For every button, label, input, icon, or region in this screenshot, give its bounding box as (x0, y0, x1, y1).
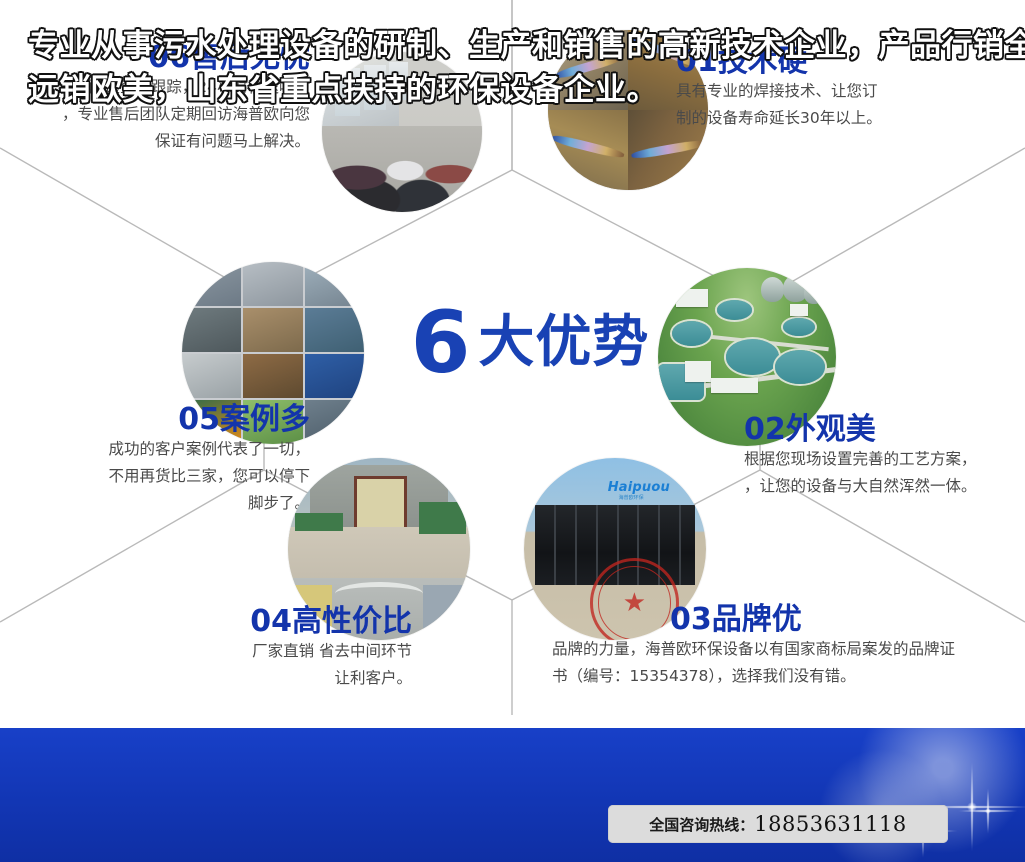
banner-text: 专业从事污水处理设备的研制、生产和销售的高新技术企业，产品行销全国并 远销欧美，… (28, 24, 908, 112)
feature-03-line-1: 品牌的力量，海普欧环保设备以有国家商标局案发的品牌证 (552, 636, 1022, 663)
banner-line-1: 专业从事污水处理设备的研制、生产和销售的高新技术企业，产品行销全国并 (28, 24, 908, 68)
feature-04-body: 厂家直销 省去中间环节 让利客户。 (120, 638, 412, 692)
brand-sublabel: 海普欧环保 (619, 494, 644, 501)
sparkle-icon-small (958, 788, 1018, 834)
hotline-number: 18853631118 (754, 812, 906, 836)
feature-02: 02外观美 根据您现场设置完善的工艺方案， ，让您的设备与大自然浑然一体。 (744, 414, 1025, 500)
feature-03-body: 品牌的力量，海普欧环保设备以有国家商标局案发的品牌证 书（编号：15354378… (552, 636, 1022, 690)
banner-line-2: 远销欧美，山东省重点扶持的环保设备企业。 (28, 68, 908, 112)
center-text: 大优势 (478, 315, 649, 371)
feature-06-line-3: 保证有问题马上解决。 (18, 128, 310, 155)
hotline-box[interactable]: 全国咨询热线： 18853631118 (608, 805, 948, 843)
feature-04: 04高性价比 厂家直销 省去中间环节 让利客户。 (120, 606, 412, 692)
feature-05-line-1: 成功的客户案例代表了一切， (18, 436, 310, 463)
feature-03-line-2: 书（编号：15354378），选择我们没有错。 (552, 663, 1022, 690)
feature-05-heading: 05案例多 (18, 404, 310, 436)
feature-05-line-2: 不用再货比三家，您可以停下 (18, 463, 310, 490)
feature-02-line-1: 根据您现场设置完善的工艺方案， (744, 446, 1025, 473)
center-title: 6 大优势 (380, 288, 680, 398)
feature-05-body: 成功的客户案例代表了一切， 不用再货比三家，您可以停下 脚步了。 (18, 436, 310, 517)
feature-04-line-1: 厂家直销 省去中间环节 (120, 638, 412, 665)
feature-04-line-2: 让利客户。 (120, 665, 412, 692)
feature-02-heading: 02外观美 (744, 414, 1025, 446)
brand-logo: Haipuou (608, 480, 670, 495)
infographic-canvas: 6 大优势 06售后无忧 物流配送全程跟踪，24小时快速响应 ，专业售后团队定期… (0, 0, 1025, 862)
feature-02-line-2: ，让您的设备与大自然浑然一体。 (744, 473, 1025, 500)
center-number: 6 (411, 300, 469, 386)
feature-04-heading: 04高性价比 (120, 606, 412, 638)
feature-03-heading: 03品牌优 (670, 604, 1022, 636)
feature-02-body: 根据您现场设置完善的工艺方案， ，让您的设备与大自然浑然一体。 (744, 446, 1025, 500)
hotline-label: 全国咨询热线： (649, 814, 754, 835)
feature-03: 03品牌优 品牌的力量，海普欧环保设备以有国家商标局案发的品牌证 书（编号：15… (552, 604, 1022, 690)
feature-05-line-3: 脚步了。 (18, 490, 310, 517)
feature-05: 05案例多 成功的客户案例代表了一切， 不用再货比三家，您可以停下 脚步了。 (18, 404, 310, 517)
